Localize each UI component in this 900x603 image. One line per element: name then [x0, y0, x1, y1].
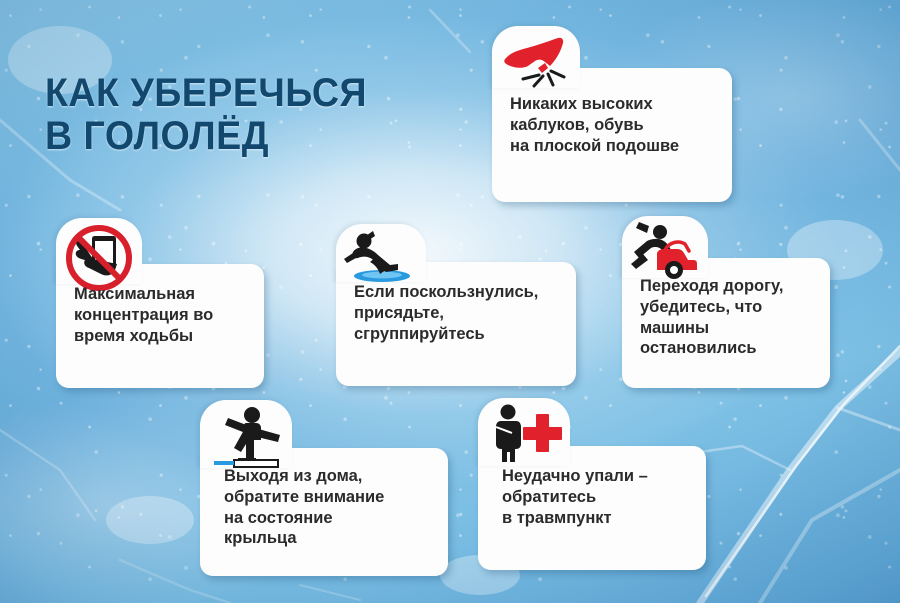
pedestrian-hit-by-car-icon [627, 220, 707, 280]
tip-card-slip-crouch[interactable]: Если поскользнулись, присядьте, сгруппир… [336, 262, 576, 386]
injured-person-red-cross-icon [486, 402, 574, 466]
person-balancing-on-step-icon [208, 404, 294, 470]
card-text: Выходя из дома, обратите внимание на сос… [224, 466, 444, 549]
tip-card-trauma-center[interactable]: Неудачно упали – обратитесь в травмпункт [478, 446, 706, 570]
red-high-heel-shoe-breaking-icon [498, 32, 574, 88]
page-title: КАК УБЕРЕЧЬСЯ В ГОЛОЛЁД [45, 72, 440, 158]
title-line-2: В ГОЛОЛЁД [45, 115, 440, 158]
tip-card-phone-concentration[interactable]: Максимальная концентрация во время ходьб… [56, 264, 264, 388]
infographic-poster: КАК УБЕРЕЧЬСЯ В ГОЛОЛЁД Никаких высоких … [0, 0, 900, 603]
person-slipping-on-ice-icon [342, 228, 424, 284]
tip-card-porch-condition[interactable]: Выходя из дома, обратите внимание на сос… [200, 448, 448, 576]
title-line-1: КАК УБЕРЕЧЬСЯ [45, 71, 367, 115]
card-text: Максимальная концентрация во время ходьб… [74, 284, 260, 346]
card-text: Неудачно упали – обратитесь в травмпункт [502, 466, 702, 528]
tip-card-crossing-road[interactable]: Переходя дорогу, убедитесь, что машины о… [622, 258, 830, 388]
card-text: Если поскользнулись, присядьте, сгруппир… [354, 282, 574, 344]
card-text: Переходя дорогу, убедитесь, что машины о… [640, 276, 826, 359]
card-text: Никаких высоких каблуков, обувь на плоск… [510, 94, 722, 156]
tip-card-high-heels[interactable]: Никаких высоких каблуков, обувь на плоск… [492, 68, 732, 202]
